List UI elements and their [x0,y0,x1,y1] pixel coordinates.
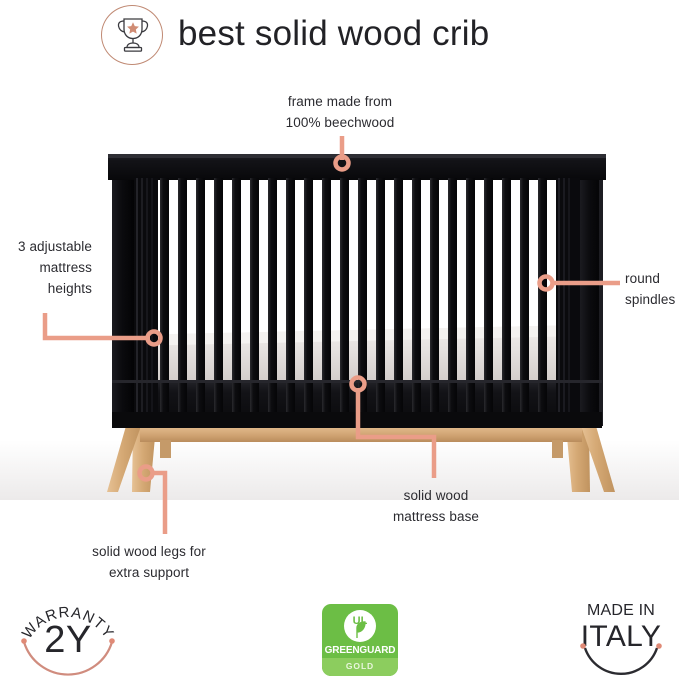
annotation-line: extra support [38,562,260,583]
award-badge [101,5,163,65]
crib-spindle [448,178,457,420]
crib-spindle [178,178,187,420]
annotation-line: solid wood legs for [38,541,260,562]
annotation-line: frame made from [240,91,440,112]
greenguard-badge: UL GREENGUARD GOLD [322,604,398,676]
annotation-line: 3 adjustable [0,236,92,257]
crib-spindle [466,178,475,420]
crib-spindle [376,178,385,420]
crib-spindle [160,178,169,420]
crib-spindle [268,178,277,420]
annotation-line: heights [0,278,92,299]
annotation-mattress-base: solid wood mattress base [345,485,527,527]
crib-spindle [538,178,547,420]
crib-spindle [502,178,511,420]
warranty-years: 2Y [8,618,128,662]
annotation-line: mattress base [345,506,527,527]
header: best solid wood crib [0,0,679,70]
crib-illustration [0,140,679,500]
crib-spindle [430,178,439,420]
crib-spindle [340,178,349,420]
crib-spindle [484,178,493,420]
crib-spindle [250,178,259,420]
annotation-solid-wood-legs: solid wood legs for extra support [38,541,260,583]
crib-spindle [322,178,331,420]
annotation-mattress-heights: 3 adjustable mattress heights [0,236,92,299]
trophy-icon [114,16,152,56]
italy-arc-graphic [563,596,679,683]
crib-spindle [304,178,313,420]
annotation-line: round [625,268,679,289]
italy-dot-left [580,643,586,649]
annotation-line: spindles [625,289,679,310]
crib-spindle [520,178,529,420]
annotation-round-spindles: round spindles [625,268,679,310]
crib-spindle [394,178,403,420]
certification-badge-row: WARRANTY 2Y UL GREENGUARD GOLD MADE IN I… [0,596,679,683]
crib-spindle [214,178,223,420]
infographic-page: best solid wood crib [0,0,679,683]
crib-spindle [232,178,241,420]
greenguard-tier: GOLD [322,661,398,671]
crib-spindle [412,178,421,420]
warranty-badge: WARRANTY 2Y [8,596,128,683]
crib-spindle [196,178,205,420]
page-title: best solid wood crib [178,10,489,58]
ul-leaf-icon: UL [344,610,376,642]
crib-frame [108,154,606,428]
annotation-line: solid wood [345,485,527,506]
greenguard-name: GREENGUARD [322,645,398,656]
greenguard-tier-band: GOLD [322,658,398,676]
crib-spindle [286,178,295,420]
crib-spindle [358,178,367,420]
italy-dot-right [656,643,662,649]
annotation-frame-material: frame made from 100% beechwood [240,91,440,133]
annotation-line: 100% beechwood [240,112,440,133]
made-in-italy-badge: MADE IN ITALY [563,596,679,683]
annotation-line: mattress [0,257,92,278]
